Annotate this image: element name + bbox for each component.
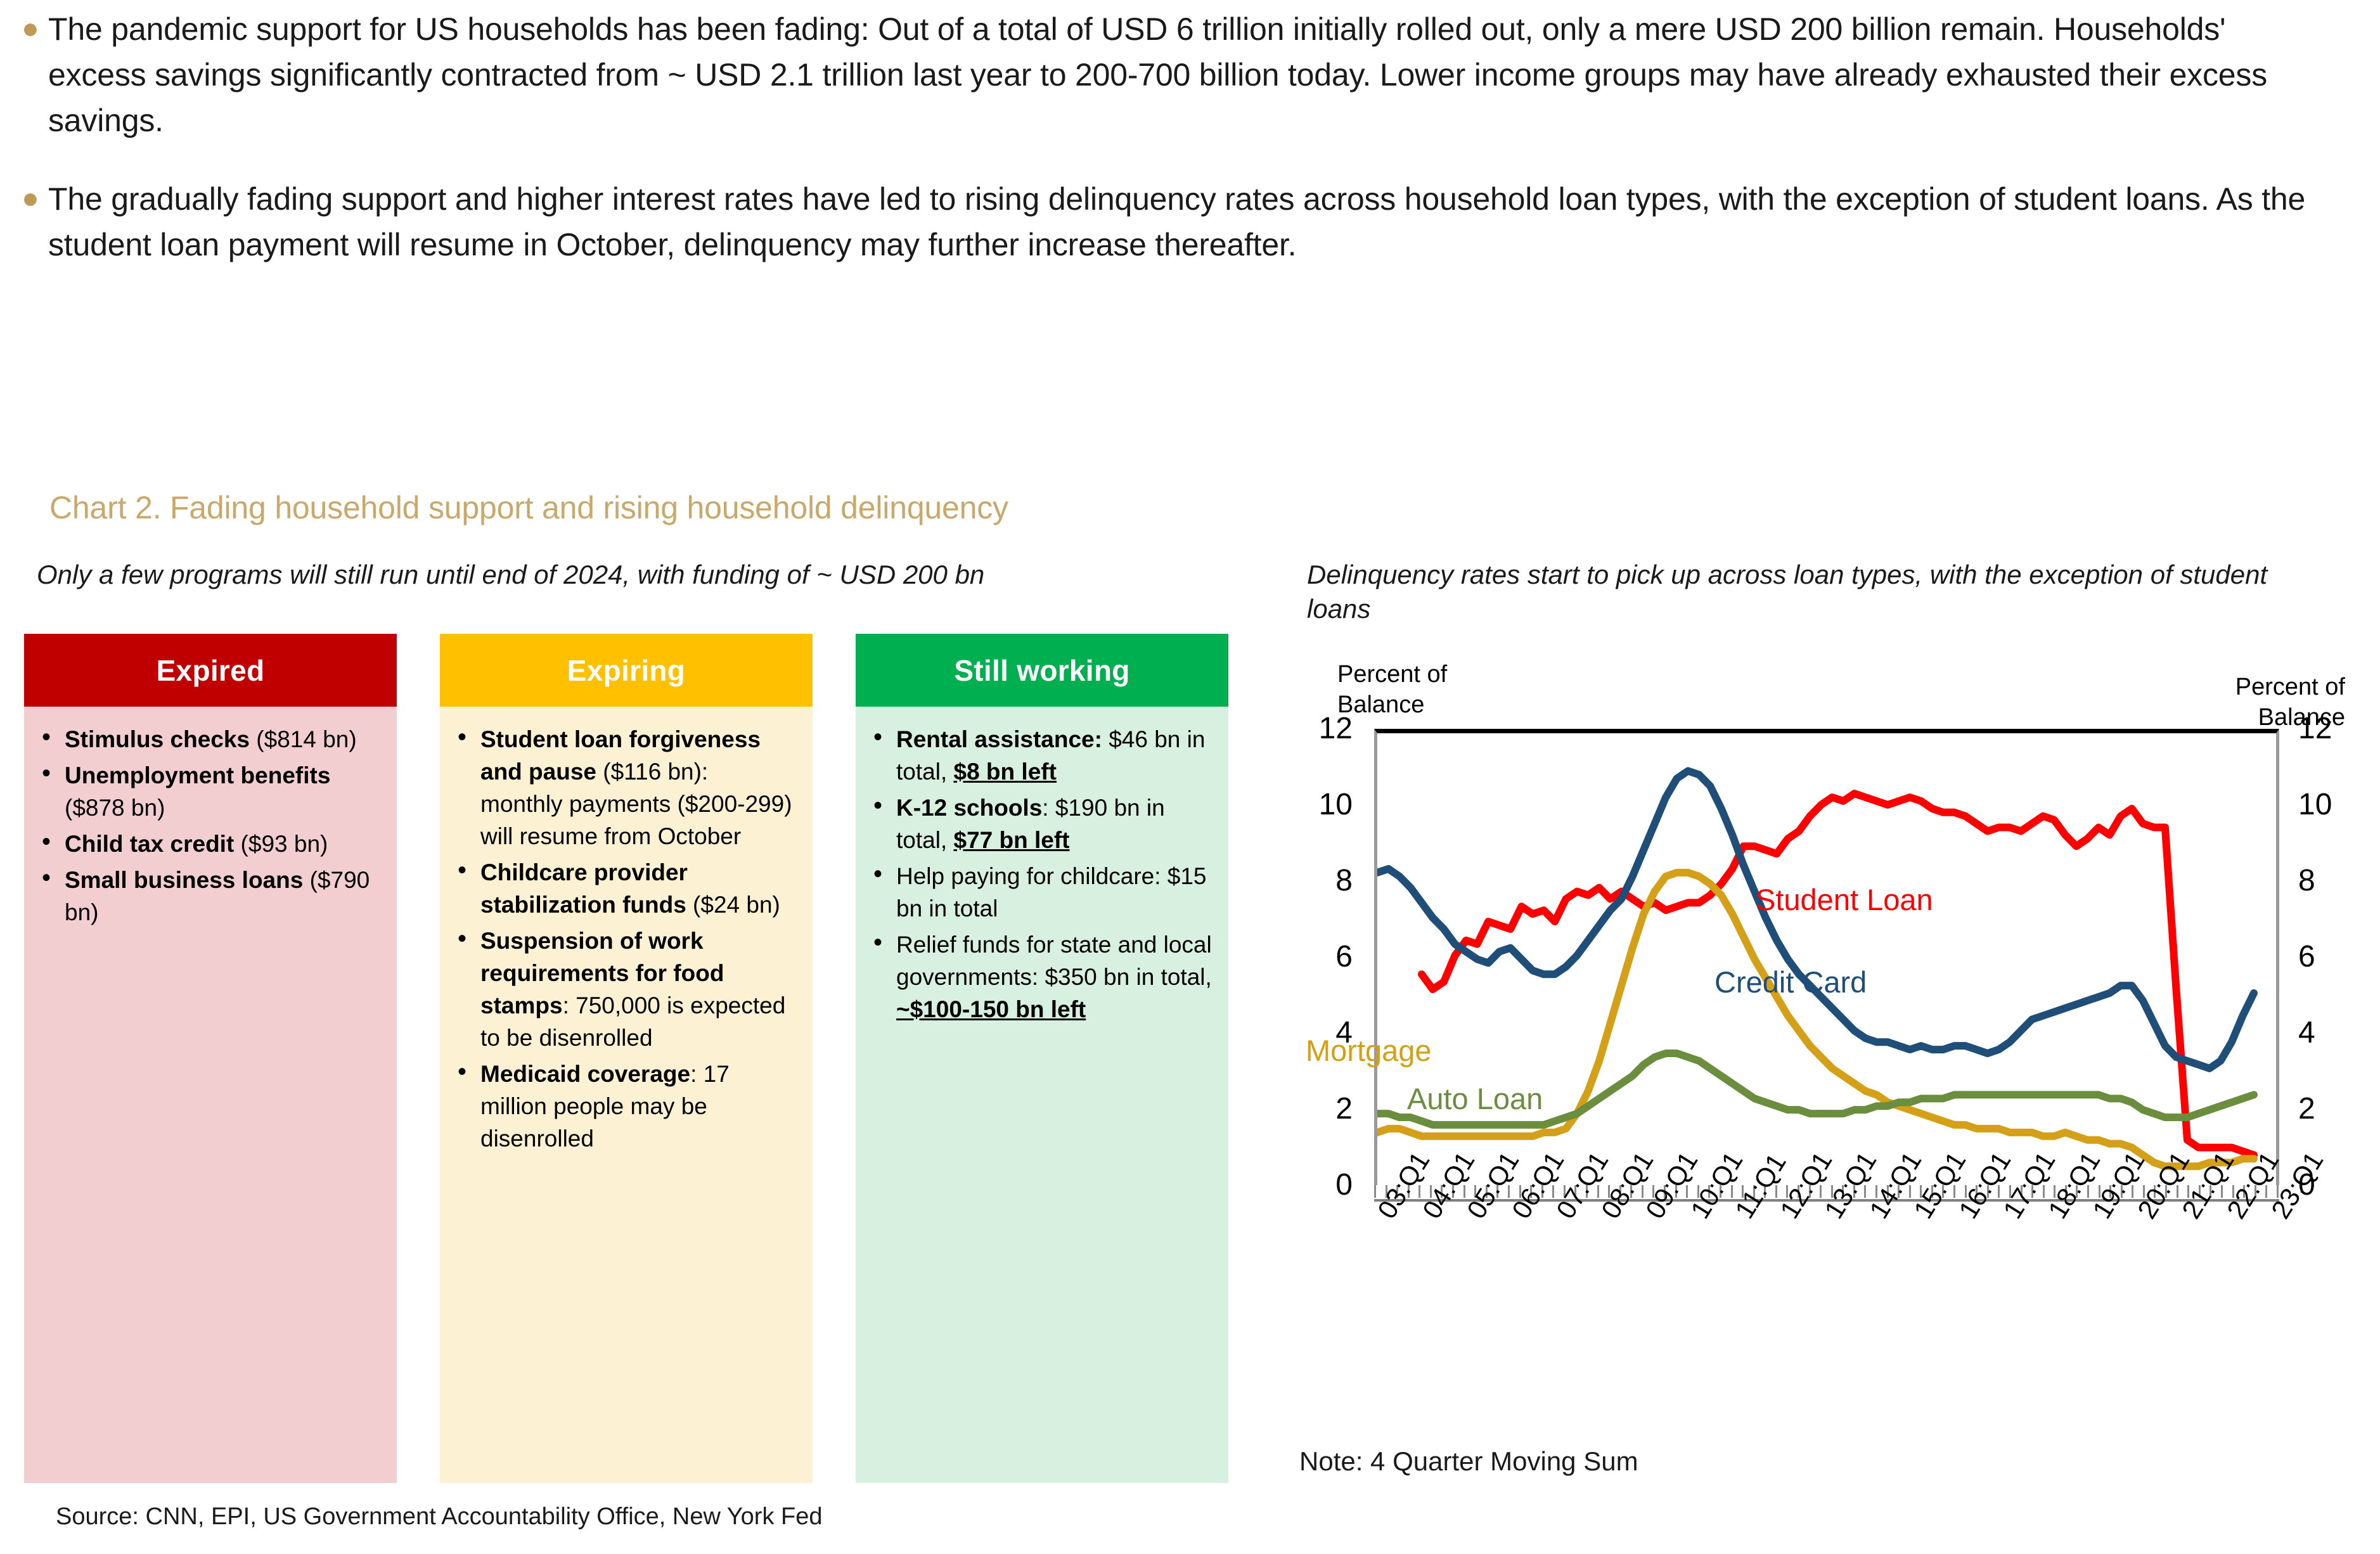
series-label-credit-card: Credit Card xyxy=(1714,965,1867,999)
expiring-item-list: Student loan forgiveness and pause ($116… xyxy=(451,723,796,1155)
program-column-expired: Expired Stimulus checks ($814 bn) Unempl… xyxy=(24,634,397,1483)
list-item: Suspension of work requirements for food… xyxy=(451,925,796,1054)
column-body-still-working: Rental assistance: $46 bn in total, $8 b… xyxy=(856,707,1228,1483)
delinquency-line-chart: Percent of Balance Percent of Balance 02… xyxy=(1299,659,2351,1546)
expired-item-list: Stimulus checks ($814 bn) Unemployment b… xyxy=(35,723,380,928)
y-tick-label: 12 xyxy=(2298,714,2362,744)
intro-bullet-1: ● The pandemic support for US households… xyxy=(19,6,2364,143)
column-header-still-working: Still working xyxy=(856,634,1228,707)
list-item: Small business loans ($790 bn) xyxy=(35,864,380,928)
program-status-columns: Expired Stimulus checks ($814 bn) Unempl… xyxy=(24,634,1228,1483)
y-tick-label: 10 xyxy=(1289,790,1353,820)
y-axis-title-left: Percent of Balance xyxy=(1337,659,1489,720)
series-paths xyxy=(1377,733,2276,1185)
x-axis-tick-labels: 03:Q104:Q105:Q106:Q107:Q108:Q109:Q110:Q1… xyxy=(1374,1208,2279,1341)
chart-section-title: Chart 2. Fading household support and ri… xyxy=(49,489,1008,526)
chart-note: Note: 4 Quarter Moving Sum xyxy=(1299,1446,1638,1477)
list-item: Childcare provider stabilization funds (… xyxy=(451,856,796,921)
intro-bullet-list: ● The pandemic support for US households… xyxy=(19,6,2364,300)
intro-bullet-1-text: The pandemic support for US households h… xyxy=(48,6,2324,143)
still-working-item-list: Rental assistance: $46 bn in total, $8 b… xyxy=(867,723,1212,1025)
column-header-expiring: Expiring xyxy=(440,634,813,707)
y-tick-label: 10 xyxy=(2298,790,2362,820)
intro-bullet-2-text: The gradually fading support and higher … xyxy=(48,176,2324,267)
list-item: Rental assistance: $46 bn in total, $8 b… xyxy=(867,723,1212,788)
right-panel-subtitle: Delinquency rates start to pick up acros… xyxy=(1307,558,2296,626)
y-tick-label: 6 xyxy=(1289,942,1353,972)
y-tick-label: 2 xyxy=(1289,1094,1353,1124)
list-item: Relief funds for state and local governm… xyxy=(867,928,1212,1025)
program-column-still-working: Still working Rental assistance: $46 bn … xyxy=(856,634,1228,1483)
y-axis-ticks-right: 024681012 xyxy=(2288,729,2351,1185)
x-tick-mark xyxy=(1374,1185,1376,1198)
y-axis-ticks-left: 024681012 xyxy=(1299,729,1363,1185)
left-panel-subtitle: Only a few programs will still run until… xyxy=(37,558,1298,592)
list-item: Unemployment benefits ($878 bn) xyxy=(35,759,380,824)
series-label-mortgage: Mortgage xyxy=(1306,1033,1432,1068)
list-item: Student loan forgiveness and pause ($116… xyxy=(451,723,796,852)
column-header-expired: Expired xyxy=(24,634,397,707)
source-note: Source: CNN, EPI, US Government Accounta… xyxy=(56,1503,823,1531)
y-tick-label: 8 xyxy=(2298,866,2362,896)
y-tick-label: 12 xyxy=(1289,714,1353,744)
column-body-expired: Stimulus checks ($814 bn) Unemployment b… xyxy=(24,707,397,1483)
bullet-dot-icon: ● xyxy=(19,6,48,49)
y-tick-label: 0 xyxy=(1289,1170,1353,1200)
plot-wrapper: 024681012 024681012 Student Loan Credit … xyxy=(1299,729,2351,1198)
series-label-student-loan: Student Loan xyxy=(1756,882,1933,917)
column-body-expiring: Student loan forgiveness and pause ($116… xyxy=(440,707,813,1483)
list-item: Medicaid coverage: 17 million people may… xyxy=(451,1058,796,1155)
plot-area xyxy=(1374,729,2279,1185)
intro-bullet-2: ● The gradually fading support and highe… xyxy=(19,176,2364,267)
list-item: Help paying for childcare: $15 bn in tot… xyxy=(867,860,1212,925)
y-tick-label: 2 xyxy=(2298,1094,2362,1124)
bullet-dot-icon: ● xyxy=(19,176,48,219)
list-item: Child tax credit ($93 bn) xyxy=(35,828,380,860)
y-tick-label: 8 xyxy=(1289,866,1353,896)
program-column-expiring: Expiring Student loan forgiveness and pa… xyxy=(440,634,813,1483)
y-tick-label: 6 xyxy=(2298,942,2362,972)
series-label-auto-loan: Auto Loan xyxy=(1407,1081,1543,1116)
list-item: Stimulus checks ($814 bn) xyxy=(35,723,380,755)
y-tick-label: 4 xyxy=(2298,1018,2362,1048)
list-item: K-12 schools: $190 bn in total, $77 bn l… xyxy=(867,792,1212,856)
